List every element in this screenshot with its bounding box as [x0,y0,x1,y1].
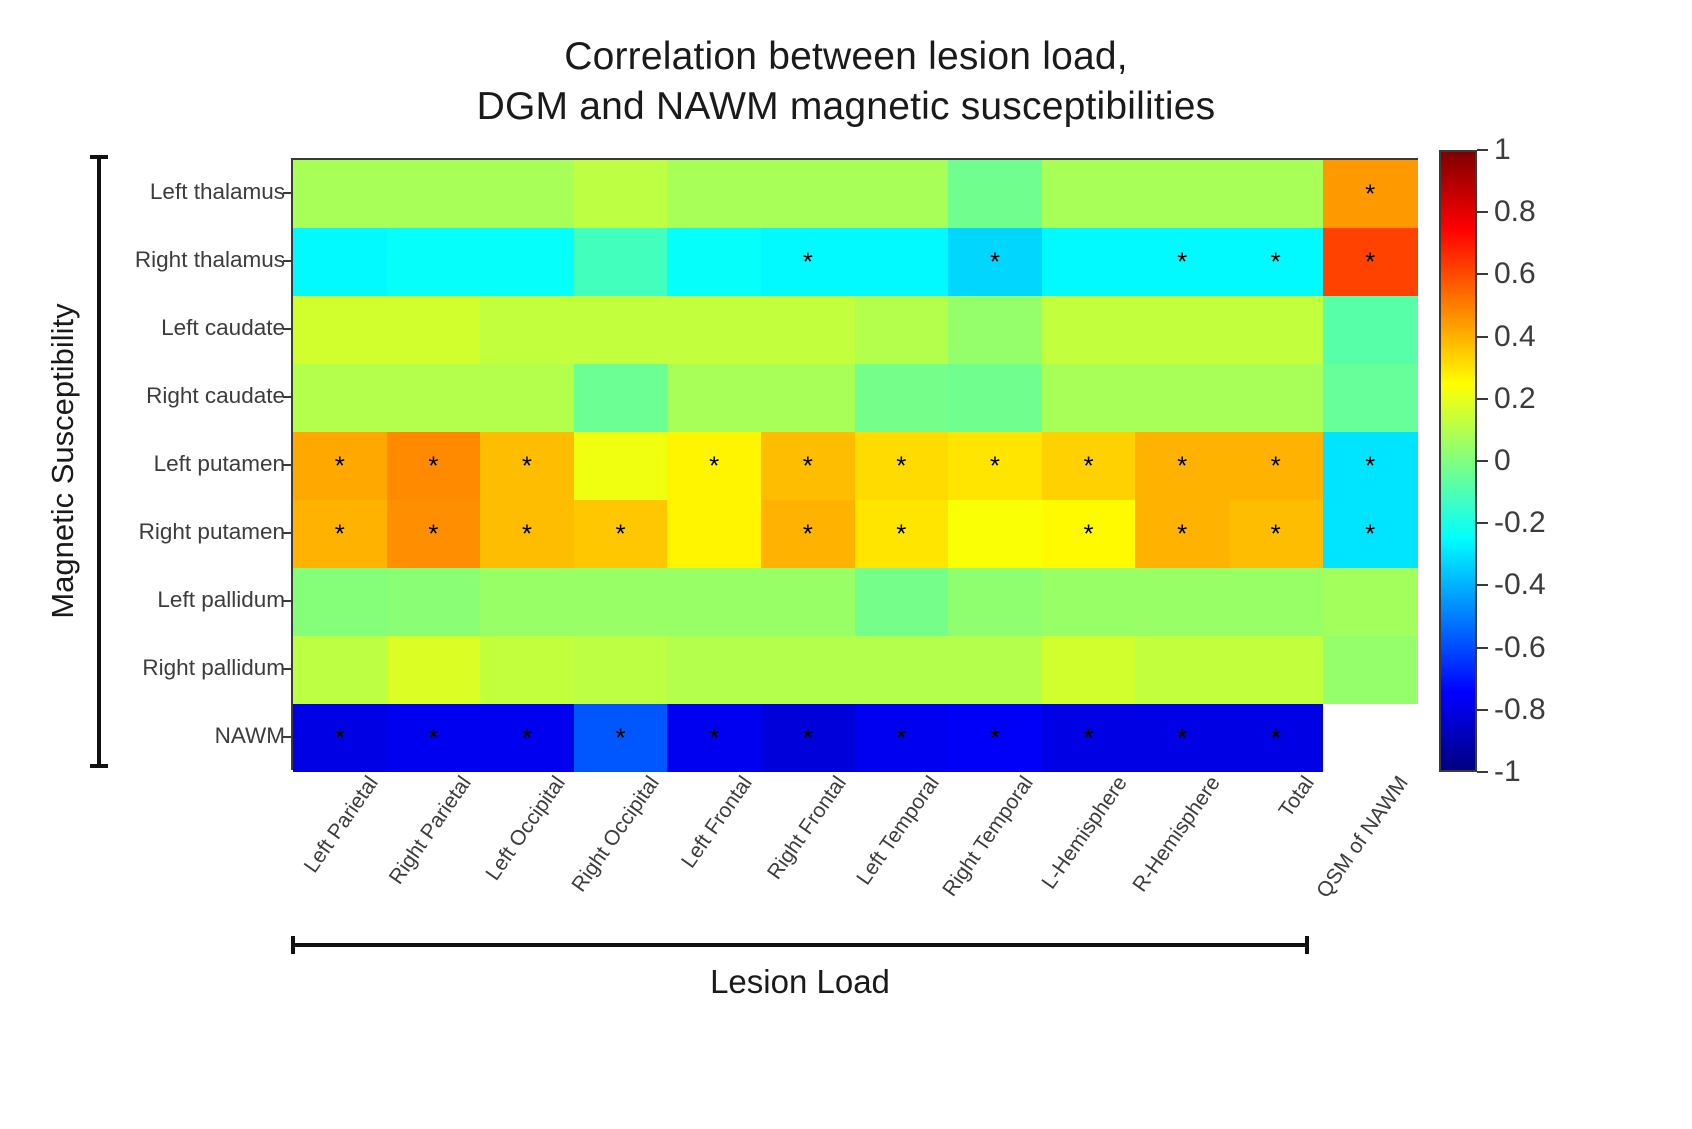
heatmap-cell [387,228,481,296]
heatmap-cell [1042,364,1136,432]
heatmap-cell [761,636,855,704]
colorbar-tick-label: -0.4 [1494,568,1586,602]
significance-star: * [803,724,813,750]
significance-star: * [803,520,813,546]
y-tick-label: Right thalamus [55,226,285,294]
colorbar-tick-label: -0.2 [1494,506,1586,540]
heatmap-cell: * [1323,432,1418,500]
heatmap-cell: * [1135,704,1229,772]
heatmap-cell [667,364,761,432]
heatmap-cell [667,160,761,228]
heatmap-cell [480,364,574,432]
colorbar-tick-mark [1477,460,1488,462]
heatmap-cell: * [574,500,668,568]
heatmap-cell [1323,364,1418,432]
heatmap-cell [1229,568,1323,636]
heatmap-cell [1229,636,1323,704]
y-tick-label: Right pallidum [55,634,285,702]
heatmap-cell: * [1042,500,1136,568]
colorbar-tick-mark [1477,584,1488,586]
significance-star: * [428,452,438,478]
significance-star: * [1271,248,1281,274]
heatmap-cell [387,160,481,228]
heatmap-cell [574,636,668,704]
heatmap-cell [855,228,949,296]
significance-star: * [335,724,345,750]
heatmap-cell [1323,568,1418,636]
y-tick-label: Right putamen [55,498,285,566]
significance-star: * [896,520,906,546]
heatmap-cell [1229,160,1323,228]
heatmap-cell [948,160,1042,228]
heatmap-cell [667,228,761,296]
colorbar-tick-mark [1477,149,1488,151]
heatmap-cell: * [387,704,481,772]
heatmap-cell [1135,568,1229,636]
y-tick-labels: Left thalamusRight thalamusLeft caudateR… [40,158,285,770]
heatmap-cell: * [948,228,1042,296]
heatmap-cell [667,636,761,704]
heatmap-cell [948,568,1042,636]
significance-star: * [1177,452,1187,478]
heatmap-cell [667,500,761,568]
colorbar-tick-marks [1477,150,1493,772]
significance-star: * [1083,452,1093,478]
heatmap-cell [293,568,387,636]
heatmap-cell: * [1042,704,1136,772]
colorbar-tick-label: 0.6 [1494,257,1586,291]
colorbar-gradient [1441,152,1475,770]
significance-star: * [1177,248,1187,274]
heatmap-cell [1042,228,1136,296]
significance-star: * [1177,520,1187,546]
heatmap-cell [855,636,949,704]
significance-star: * [1083,520,1093,546]
heatmap-cell [761,568,855,636]
colorbar-tick-label: 0.2 [1494,382,1586,416]
y-tick-label: Left putamen [55,430,285,498]
significance-star: * [616,520,626,546]
significance-star: * [803,248,813,274]
colorbar-tick-label: -0.6 [1494,631,1586,665]
colorbar-tick-label: -1 [1494,755,1586,789]
significance-star: * [522,520,532,546]
heatmap-cell: * [1323,160,1418,228]
heatmap-cell: * [948,704,1042,772]
figure-title-line-2: DGM and NAWM magnetic susceptibilities [0,82,1692,132]
heatmap-cell [1042,160,1136,228]
colorbar-tick-label: -0.8 [1494,693,1586,727]
heatmap-cell [855,160,949,228]
heatmap-cell: * [1135,228,1229,296]
colorbar-tick-mark [1477,709,1488,711]
colorbar-tick-mark [1477,211,1488,213]
heatmap-cell: * [761,432,855,500]
heatmap-cell [574,228,668,296]
heatmap-cell: * [1229,228,1323,296]
heatmap-cell [1229,296,1323,364]
significance-star: * [1365,452,1375,478]
heatmap-cell [293,228,387,296]
significance-star: * [335,520,345,546]
heatmap-cell [1042,636,1136,704]
significance-star: * [1365,248,1375,274]
heatmap-cell [1323,296,1418,364]
heatmap-cell: * [1323,500,1418,568]
significance-star: * [428,520,438,546]
colorbar-tick-label: 0 [1494,444,1586,478]
heatmap-cell [387,568,481,636]
y-tick-label: Right caudate [55,362,285,430]
significance-star: * [616,724,626,750]
x-axis-bracket [291,936,1309,954]
heatmap-cell [1135,296,1229,364]
colorbar-tick-label: 0.4 [1494,320,1586,354]
heatmap-cell: * [855,704,949,772]
significance-star: * [709,724,719,750]
colorbar-tick-label: 1 [1494,133,1586,167]
y-tick-label: Left pallidum [55,566,285,634]
heatmap-cell [293,160,387,228]
x-bracket-cap-right [1305,936,1309,954]
heatmap-cell [574,568,668,636]
heatmap-cell: * [1229,704,1323,772]
significance-star: * [1083,724,1093,750]
heatmap-cell: * [855,432,949,500]
y-tick-label: NAWM [55,702,285,770]
heatmap-cell: * [480,704,574,772]
heatmap-cell: * [1135,500,1229,568]
heatmap-cell [948,296,1042,364]
significance-star: * [1271,520,1281,546]
colorbar-tick-mark [1477,336,1488,338]
heatmap-cell [480,636,574,704]
significance-star: * [990,724,1000,750]
heatmap-cell [948,636,1042,704]
heatmap-cell [293,364,387,432]
x-bracket-cap-left [291,936,295,954]
y-tick-label: Left thalamus [55,158,285,226]
significance-star: * [896,724,906,750]
heatmap-cell: * [855,500,949,568]
heatmap-cell [855,296,949,364]
heatmap-cell: * [293,432,387,500]
heatmap-cell [667,296,761,364]
heatmap-cell [293,296,387,364]
colorbar-tick-labels: 10.80.60.40.20-0.2-0.4-0.6-0.8-1 [1494,150,1614,772]
colorbar-tick-mark [1477,522,1488,524]
significance-star: * [896,452,906,478]
heatmap-cell: * [480,500,574,568]
heatmap-cell [574,160,668,228]
significance-star: * [335,452,345,478]
heatmap-cell: * [1135,432,1229,500]
significance-star: * [428,724,438,750]
significance-star: * [522,452,532,478]
heatmap-cell: * [387,432,481,500]
colorbar-tick-label: 0.8 [1494,195,1586,229]
heatmap-cell: * [761,704,855,772]
heatmap-cell [1323,704,1418,772]
heatmap-cell [387,296,481,364]
figure-root: Correlation between lesion load, DGM and… [0,0,1692,1129]
heatmap-cell [855,568,949,636]
heatmap-cell [480,160,574,228]
heatmap-cell: * [1229,432,1323,500]
heatmap-cell [1042,296,1136,364]
heatmap-grid: ************************************** [293,160,1416,768]
heatmap-cell [761,160,855,228]
significance-star: * [990,452,1000,478]
figure-title: Correlation between lesion load, DGM and… [0,32,1692,132]
heatmap-cell: * [761,228,855,296]
colorbar-tick-mark [1477,398,1488,400]
heatmap-cell [574,432,668,500]
significance-star: * [709,452,719,478]
heatmap-cell: * [480,432,574,500]
heatmap-cell [1042,568,1136,636]
significance-star: * [803,452,813,478]
heatmap-cell: * [761,500,855,568]
heatmap-cell [855,364,949,432]
significance-star: * [1177,724,1187,750]
significance-star: * [1271,452,1281,478]
colorbar-tick-mark [1477,771,1488,773]
heatmap-cell [667,568,761,636]
colorbar-tick-mark [1477,647,1488,649]
heatmap-cell: * [1042,432,1136,500]
heatmap-cell: * [574,704,668,772]
heatmap-cell [574,296,668,364]
heatmap-cell: * [293,500,387,568]
heatmap-cell [387,636,481,704]
x-axis-group-label: Lesion Load [291,963,1309,1001]
heatmap-cell [1135,160,1229,228]
heatmap-cell: * [293,704,387,772]
heatmap-cell [1323,636,1418,704]
colorbar [1439,150,1477,772]
x-bracket-line [291,943,1309,947]
significance-star: * [990,248,1000,274]
heatmap-cell [1229,364,1323,432]
heatmap-cell [480,228,574,296]
heatmap-cell [387,364,481,432]
heatmap-cell [761,364,855,432]
heatmap-cell [480,296,574,364]
y-tick-label: Left caudate [55,294,285,362]
heatmap-cell [480,568,574,636]
figure-title-line-1: Correlation between lesion load, [0,32,1692,82]
heatmap-cell [293,636,387,704]
x-tick-labels: Left ParietalRight ParietalLeft Occipita… [291,772,1471,942]
heatmap-cell [1135,364,1229,432]
heatmap-plot-area: ************************************** [291,158,1418,770]
significance-star: * [1365,520,1375,546]
significance-star: * [522,724,532,750]
significance-star: * [1365,180,1375,206]
heatmap-cell [948,500,1042,568]
heatmap-cell [948,364,1042,432]
heatmap-cell: * [1229,500,1323,568]
heatmap-cell: * [1323,228,1418,296]
heatmap-cell [761,296,855,364]
heatmap-cell [574,364,668,432]
heatmap-cell: * [948,432,1042,500]
significance-star: * [1271,724,1281,750]
colorbar-tick-mark [1477,273,1488,275]
heatmap-cell: * [667,704,761,772]
heatmap-cell: * [667,432,761,500]
heatmap-cell: * [387,500,481,568]
heatmap-cell [1135,636,1229,704]
